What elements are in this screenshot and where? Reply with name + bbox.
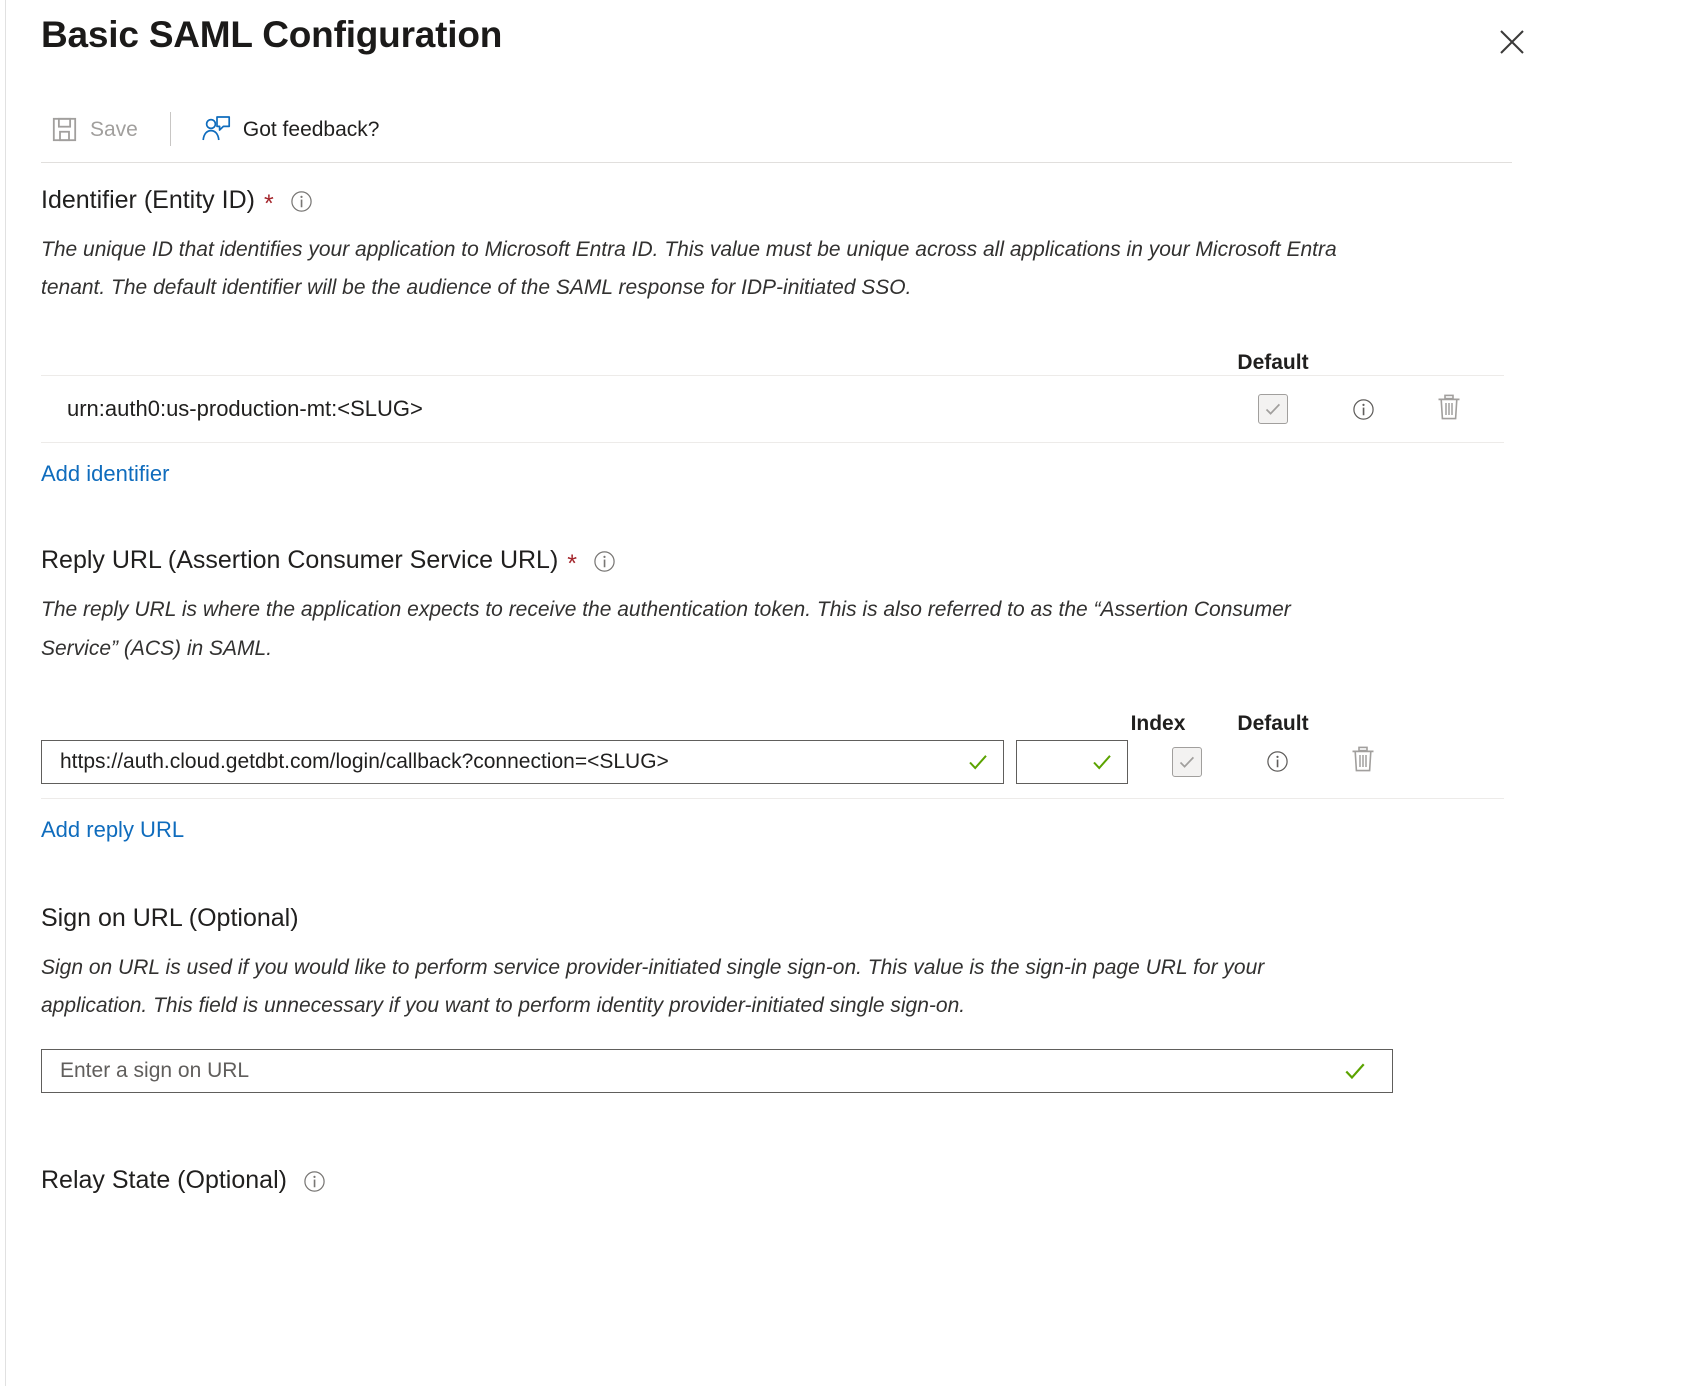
reply-url-delete-button[interactable] bbox=[1308, 745, 1418, 778]
save-label: Save bbox=[90, 119, 138, 140]
sign-on-url-input[interactable] bbox=[42, 1050, 1336, 1092]
identifier-table-header: Default bbox=[41, 333, 1504, 375]
save-button[interactable]: Save bbox=[41, 107, 148, 151]
relay-state-label-row: Relay State (Optional) bbox=[41, 1165, 1664, 1195]
command-bar: Save Got feedback? bbox=[41, 96, 1664, 162]
checkbox-checked-disabled-icon bbox=[1258, 394, 1288, 424]
reply-url-label: Reply URL (Assertion Consumer Service UR… bbox=[41, 545, 558, 575]
identifier-row-info-icon[interactable] bbox=[1332, 398, 1394, 421]
reply-url-row-info-icon[interactable] bbox=[1246, 750, 1308, 773]
identifier-default-checkbox[interactable] bbox=[1214, 394, 1332, 424]
add-identifier-link[interactable]: Add identifier bbox=[41, 461, 169, 487]
relay-state-info-icon[interactable] bbox=[303, 1170, 326, 1193]
reply-url-info-icon[interactable] bbox=[593, 550, 616, 573]
reply-url-description: The reply URL is where the application e… bbox=[41, 591, 1371, 667]
identifier-label-row: Identifier (Entity ID) * bbox=[41, 185, 1664, 215]
trash-icon bbox=[1436, 393, 1462, 426]
relay-state-label: Relay State (Optional) bbox=[41, 1165, 287, 1195]
identifier-value: urn:auth0:us-production-mt:<SLUG> bbox=[41, 396, 1214, 422]
reply-url-table-header: Index Default bbox=[41, 694, 1504, 736]
relay-state-section: Relay State (Optional) bbox=[41, 1093, 1664, 1195]
sign-on-url-label: Sign on URL (Optional) bbox=[41, 903, 299, 933]
got-feedback-button[interactable]: Got feedback? bbox=[191, 107, 390, 151]
feedback-person-icon bbox=[201, 115, 231, 143]
sign-on-url-section: Sign on URL (Optional) Sign on URL is us… bbox=[41, 843, 1664, 1093]
sign-on-url-description: Sign on URL is used if you would like to… bbox=[41, 949, 1371, 1025]
trash-icon bbox=[1350, 745, 1376, 778]
checkbox-checked-disabled-icon bbox=[1172, 747, 1202, 777]
page-title: Basic SAML Configuration bbox=[41, 14, 502, 56]
reply-url-section: Reply URL (Assertion Consumer Service UR… bbox=[41, 487, 1664, 842]
reply-url-table: Index Default bbox=[41, 694, 1504, 843]
reply-url-required-marker: * bbox=[567, 552, 577, 577]
reply-url-column-default: Default bbox=[1214, 712, 1332, 736]
green-check-icon bbox=[1083, 751, 1127, 773]
save-icon bbox=[51, 116, 78, 143]
close-icon[interactable] bbox=[1492, 22, 1532, 62]
reply-url-default-checkbox[interactable] bbox=[1128, 747, 1246, 777]
identifier-label: Identifier (Entity ID) bbox=[41, 185, 255, 215]
got-feedback-label: Got feedback? bbox=[243, 119, 380, 140]
basic-saml-configuration-blade: Basic SAML Configuration Save bbox=[0, 0, 1692, 1195]
identifier-column-default: Default bbox=[1214, 351, 1332, 375]
blade-header: Basic SAML Configuration bbox=[41, 0, 1664, 96]
table-row: urn:auth0:us-production-mt:<SLUG> bbox=[41, 375, 1504, 443]
add-reply-url-link[interactable]: Add reply URL bbox=[41, 817, 184, 843]
reply-url-index-input[interactable] bbox=[1017, 741, 1083, 783]
command-bar-separator bbox=[170, 112, 171, 146]
table-row bbox=[41, 736, 1504, 799]
reply-url-input-wrapper[interactable] bbox=[41, 740, 1004, 784]
identifier-required-marker: * bbox=[264, 192, 274, 217]
sign-on-url-label-row: Sign on URL (Optional) bbox=[41, 903, 1664, 933]
identifier-section: Identifier (Entity ID) * The unique ID t… bbox=[41, 163, 1664, 487]
green-check-icon bbox=[1336, 1059, 1392, 1083]
sign-on-url-input-wrapper[interactable] bbox=[41, 1049, 1393, 1093]
identifier-description: The unique ID that identifies your appli… bbox=[41, 231, 1371, 307]
green-check-icon bbox=[959, 751, 1003, 773]
identifier-info-icon[interactable] bbox=[290, 190, 313, 213]
reply-url-input[interactable] bbox=[42, 741, 959, 783]
reply-url-column-index: Index bbox=[1102, 712, 1214, 736]
identifier-delete-button[interactable] bbox=[1394, 393, 1504, 426]
reply-url-label-row: Reply URL (Assertion Consumer Service UR… bbox=[41, 545, 1664, 575]
reply-url-index-input-wrapper[interactable] bbox=[1016, 740, 1128, 784]
identifier-table: Default urn:auth0:us-production-mt:<SLUG… bbox=[41, 333, 1504, 487]
